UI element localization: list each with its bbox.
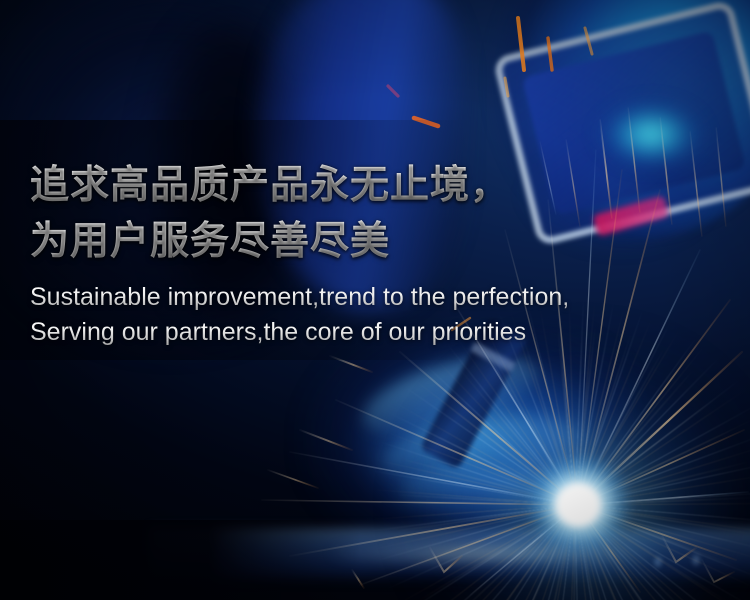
subheadline-english-line-2: Serving our partners,the core of our pri… <box>30 316 720 349</box>
metal-workpiece-plate <box>150 528 750 580</box>
headline-chinese-line-2: 为用户服务尽善尽美 <box>30 214 720 269</box>
workpiece-surface-highlight <box>330 540 690 566</box>
headline-chinese-line-1: 追求高品质产品永无止境， <box>30 158 720 213</box>
slogan-text-block: 追求高品质产品永无止境， 为用户服务尽善尽美 Sustainable impro… <box>30 158 720 349</box>
welding-arc-core <box>525 452 633 556</box>
glove-fold-highlight-1 <box>355 341 545 450</box>
glove-fold-highlight-2 <box>377 406 583 491</box>
glove-fold-highlight-3 <box>398 463 591 526</box>
subheadline-english-line-1: Sustainable improvement,trend to the per… <box>30 281 720 314</box>
welding-arc-hotspot <box>556 484 600 526</box>
welder-glove-shape <box>300 330 630 570</box>
welding-hero-banner: 追求高品质产品永无止境， 为用户服务尽善尽美 Sustainable impro… <box>0 0 750 600</box>
workpiece-bolt-holes <box>640 544 736 580</box>
bottom-left-shadow <box>0 520 360 600</box>
welding-arc-halo <box>385 315 750 600</box>
